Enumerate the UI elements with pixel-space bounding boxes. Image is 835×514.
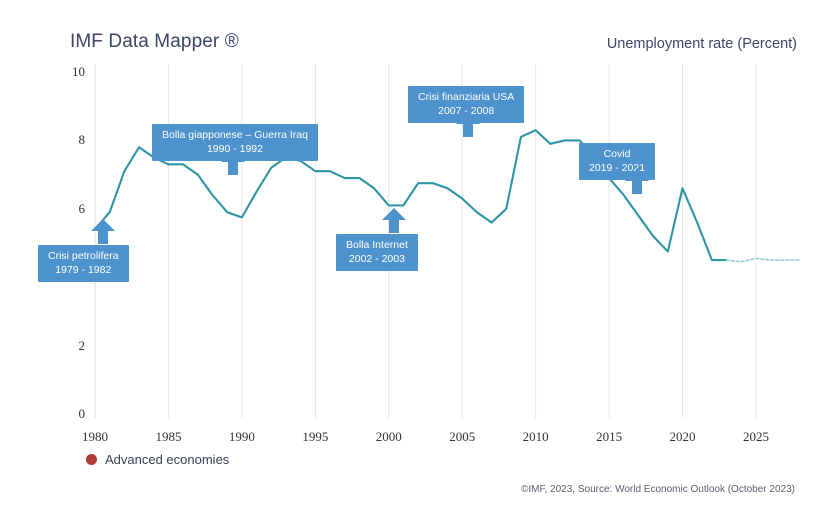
- annotation-internet-bubble[interactable]: Bolla Internet2002 - 2003: [336, 234, 418, 271]
- annotation-label-oil-crisis: Crisi petrolifera1979 - 1982: [38, 245, 129, 282]
- y-axis-tick-2: 2: [59, 338, 85, 354]
- x-axis-tick-1990: 1990: [212, 429, 272, 445]
- annotation-event-name: Bolla giapponese – Guerra Iraq: [162, 129, 308, 141]
- annotation-label-internet-bubble: Bolla Internet2002 - 2003: [336, 234, 418, 271]
- x-axis-tick-2020: 2020: [653, 429, 713, 445]
- x-axis-tick-1980: 1980: [65, 429, 125, 445]
- annotation-oil-crisis[interactable]: Crisi petrolifera1979 - 1982: [38, 245, 129, 282]
- legend-marker-dot: [86, 454, 97, 465]
- annotation-event-name: Crisi petrolifera: [48, 250, 119, 262]
- x-axis-tick-2010: 2010: [506, 429, 566, 445]
- x-axis-tick-2000: 2000: [359, 429, 419, 445]
- series-forecast-line: [727, 258, 800, 261]
- annotation-event-name: Covid: [604, 148, 631, 160]
- x-axis-tick-2005: 2005: [432, 429, 492, 445]
- annotation-event-period: 2002 - 2003: [346, 252, 408, 266]
- x-axis-tick-1995: 1995: [285, 429, 345, 445]
- annotation-arrow-undefined: [624, 169, 650, 195]
- annotation-arrow-undefined: [455, 112, 481, 138]
- annotation-event-name: Bolla Internet: [346, 239, 408, 251]
- source-footnote: ©IMF, 2023, Source: World Economic Outlo…: [521, 484, 795, 495]
- y-axis-tick-6: 6: [59, 201, 85, 217]
- chart-legend[interactable]: Advanced economies: [86, 452, 229, 467]
- y-axis-tick-10: 10: [59, 64, 85, 80]
- x-axis-tick-2015: 2015: [579, 429, 639, 445]
- legend-series-label: Advanced economies: [105, 452, 229, 467]
- x-axis-tick-1985: 1985: [138, 429, 198, 445]
- chart-page: IMF Data Mapper ® Unemployment rate (Per…: [0, 0, 835, 514]
- annotation-arrow-undefined: [220, 150, 246, 176]
- y-axis-tick-0: 0: [59, 406, 85, 422]
- annotation-event-period: 1979 - 1982: [48, 263, 119, 277]
- annotation-arrow-undefined: [90, 219, 116, 245]
- y-axis-tick-8: 8: [59, 132, 85, 148]
- annotation-arrow-undefined: [381, 208, 407, 234]
- annotation-event-name: Crisi finanziaria USA: [418, 91, 514, 103]
- x-axis-tick-2025: 2025: [726, 429, 786, 445]
